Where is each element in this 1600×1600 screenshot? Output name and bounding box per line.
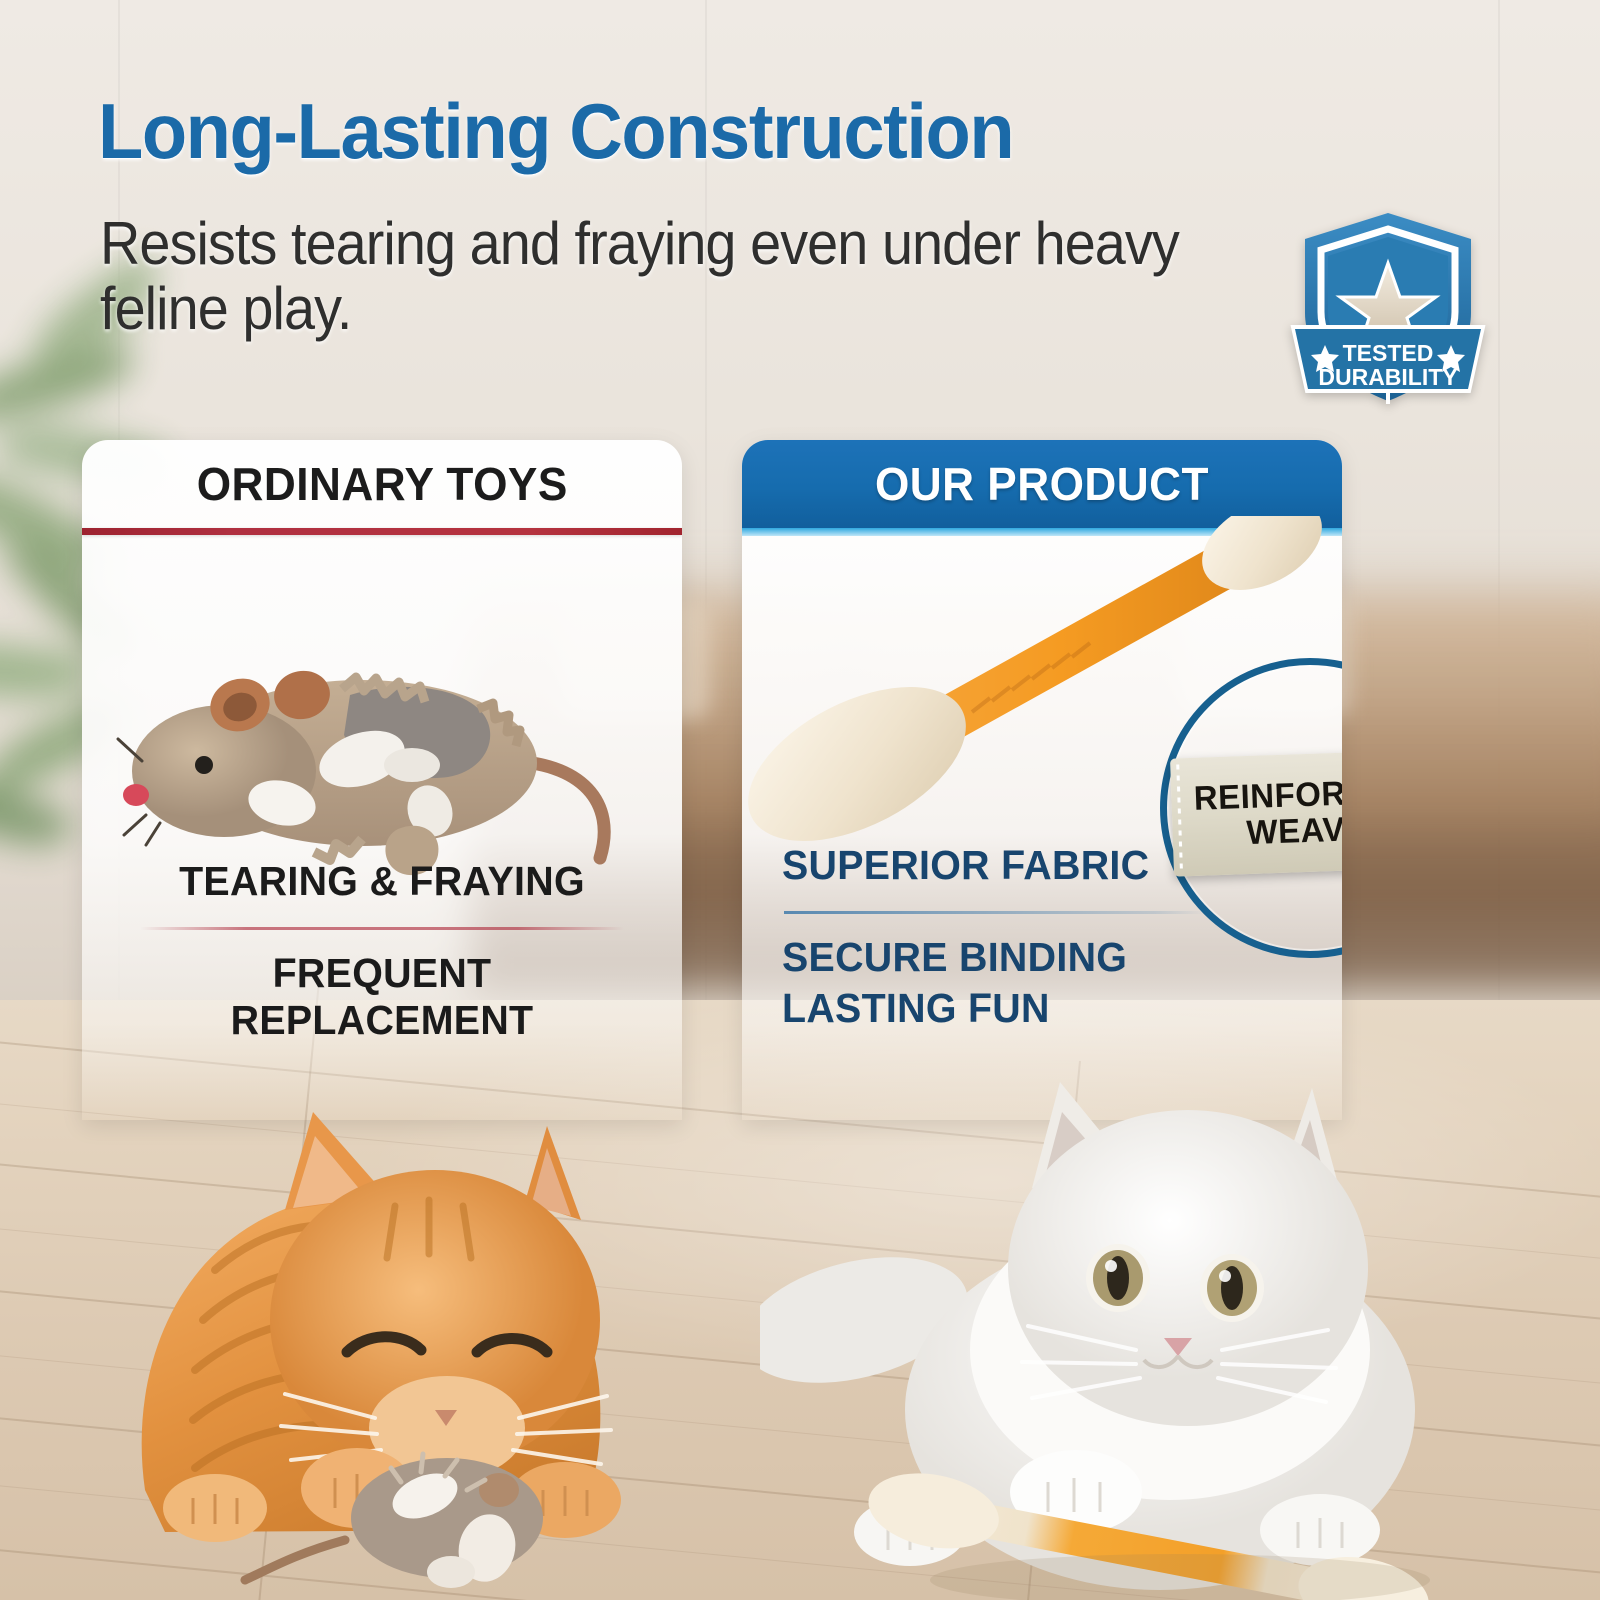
our-product-image: REINFORCED WEAVE	[742, 536, 1342, 886]
our-product-card-header: OUR PRODUCT	[742, 440, 1342, 528]
our-product-feature-list: SUPERIOR FABRIC SECURE BINDING LASTING F…	[742, 840, 1342, 1033]
callout-line-1: REINFORCED	[1193, 773, 1342, 817]
our-product-feature-1: SUPERIOR FABRIC	[782, 840, 1295, 891]
ordinary-feature-list: TEARING & FRAYING FREQUENT REPLACEMENT	[82, 858, 682, 1044]
white-kitten-photo	[760, 1020, 1550, 1600]
our-product-feature-2: SECURE BINDING	[782, 932, 1295, 983]
page-subtitle: Resists tearing and fraying even under h…	[100, 212, 1207, 342]
ordinary-card-header: ORDINARY TOYS	[82, 440, 682, 528]
ordinary-header-rule	[82, 528, 682, 535]
infographic-stage: Long-Lasting Construction Resists tearin…	[0, 0, 1600, 1600]
tested-durability-badge: TESTED DURABILITY	[1283, 205, 1493, 410]
badge-line-2: DURABILITY	[1318, 364, 1457, 390]
ordinary-card-title: ORDINARY TOYS	[196, 457, 567, 511]
our-product-card-title: OUR PRODUCT	[875, 457, 1209, 511]
page-title: Long-Lasting Construction	[98, 86, 1013, 177]
torn-mouse-toy-icon	[112, 643, 652, 883]
our-product-feature-divider	[784, 911, 1206, 914]
our-product-card: OUR PRODUCT	[742, 440, 1342, 1120]
ordinary-product-image	[82, 535, 682, 885]
ordinary-feature-divider	[140, 927, 624, 930]
ordinary-toys-card: ORDINARY TOYS	[82, 440, 682, 1120]
orange-cat-photo	[95, 1020, 735, 1600]
ordinary-feature-1: TEARING & FRAYING	[119, 858, 645, 905]
badge-line-1: TESTED	[1343, 340, 1434, 366]
